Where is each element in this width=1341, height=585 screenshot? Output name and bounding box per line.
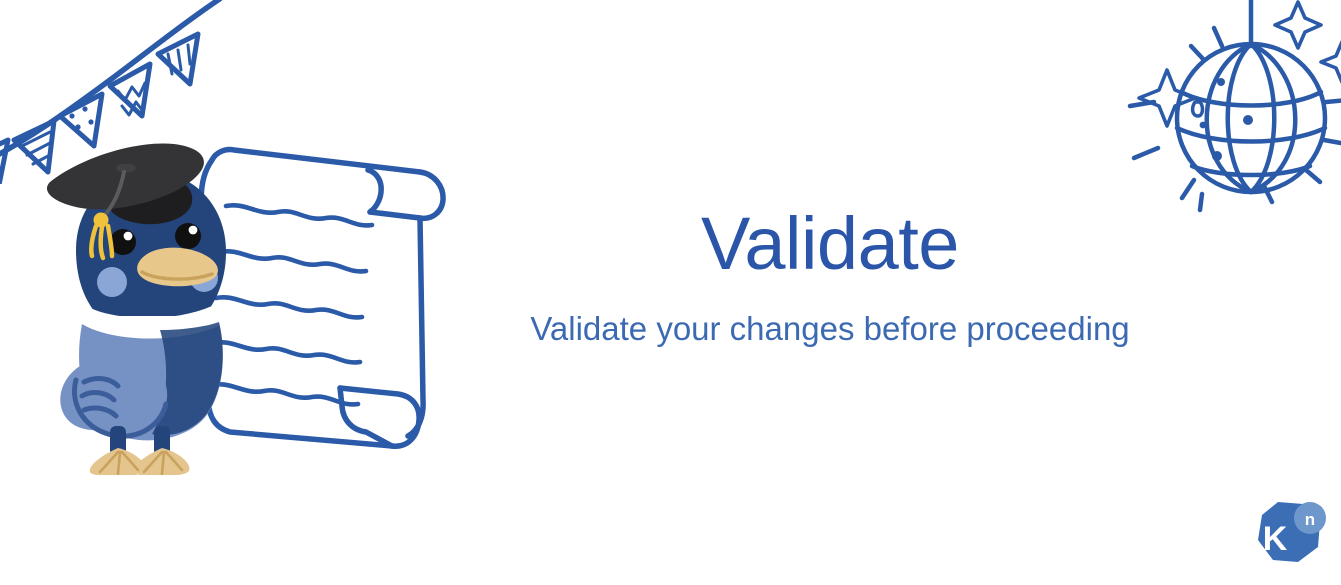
logo-letter-k: K <box>1263 520 1288 558</box>
logo-letter-n: n <box>1305 510 1315 529</box>
paper-scroll-icon <box>201 149 443 446</box>
text-block: Validate Validate your changes before pr… <box>470 205 1190 348</box>
page-title: Validate <box>470 205 1190 283</box>
discoball-decoration <box>1120 0 1341 226</box>
kn-logo: K n <box>1248 498 1330 576</box>
slide-canvas: Validate Validate your changes before pr… <box>0 0 1341 585</box>
mascot-illustration <box>40 130 470 475</box>
graduate-bird-mascot-icon <box>47 143 226 475</box>
page-subtitle: Validate your changes before proceeding <box>470 309 1190 349</box>
